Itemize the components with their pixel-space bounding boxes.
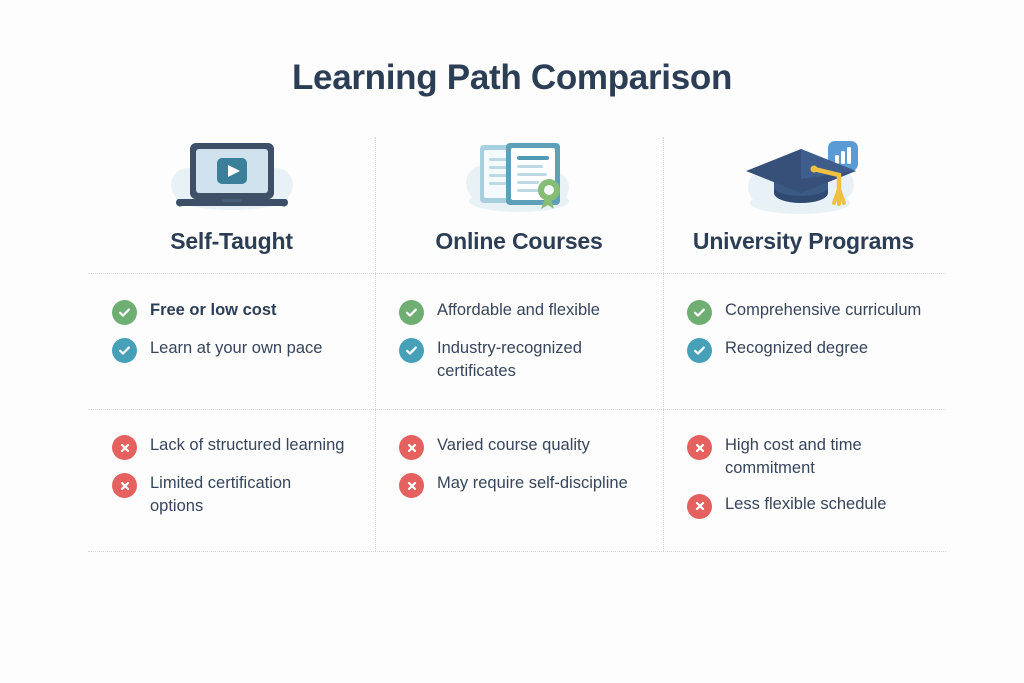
list-item-label: Less flexible schedule: [725, 493, 886, 516]
graduation-cap-icon: [729, 134, 879, 220]
certificate-documents-icon: [444, 134, 594, 220]
list-item: Limited certification options: [112, 472, 375, 519]
list-item: Recognized degree: [687, 337, 944, 363]
cons-list-self-taught: Lack of structured learning Limited cert…: [88, 409, 375, 552]
check-icon: [687, 338, 712, 363]
pros-list-university-programs: Comprehensive curriculum Recognized degr…: [663, 273, 944, 409]
cross-icon: [399, 473, 424, 498]
cross-icon: [112, 473, 137, 498]
list-item-label: Industry-recognized certificates: [437, 337, 633, 384]
cross-icon: [112, 435, 137, 460]
list-item-label: Lack of structured learning: [150, 434, 344, 457]
check-icon: [112, 338, 137, 363]
list-item-label: Free or low cost: [150, 299, 277, 322]
list-item: Lack of structured learning: [112, 434, 375, 460]
comparison-grid: Self-Taught: [88, 132, 944, 552]
check-icon: [112, 300, 137, 325]
column-title: University Programs: [693, 228, 914, 255]
list-item: Comprehensive curriculum: [687, 299, 944, 325]
list-item: Learn at your own pace: [112, 337, 375, 363]
list-item: Free or low cost: [112, 299, 375, 325]
list-item: High cost and time commitment: [687, 434, 944, 481]
list-item-label: Varied course quality: [437, 434, 590, 457]
cross-icon: [399, 435, 424, 460]
column-title: Online Courses: [435, 228, 602, 255]
learning-path-comparison-infographic: Learning Path Comparison Self: [0, 0, 1024, 683]
cross-icon: [687, 494, 712, 519]
laptop-play-icon: [157, 134, 307, 220]
column-header-self-taught: Self-Taught: [88, 132, 375, 273]
list-item-label: Learn at your own pace: [150, 337, 322, 360]
cons-list-university-programs: High cost and time commitment Less flexi…: [663, 409, 944, 552]
column-header-online-courses: Online Courses: [375, 132, 663, 273]
column-header-university-programs: University Programs: [663, 132, 944, 273]
list-item: Affordable and flexible: [399, 299, 663, 325]
list-item-label: Comprehensive curriculum: [725, 299, 921, 322]
list-item-label: Limited certification options: [150, 472, 346, 519]
column-title: Self-Taught: [170, 228, 293, 255]
list-item: Industry-recognized certificates: [399, 337, 663, 384]
check-icon: [687, 300, 712, 325]
list-item: Less flexible schedule: [687, 493, 944, 519]
list-item: May require self-discipline: [399, 472, 663, 498]
list-item-label: Recognized degree: [725, 337, 868, 360]
list-item: Varied course quality: [399, 434, 663, 460]
cons-list-online-courses: Varied course quality May require self-d…: [375, 409, 663, 552]
list-item-label: Affordable and flexible: [437, 299, 600, 322]
pros-list-self-taught: Free or low cost Learn at your own pace: [88, 273, 375, 409]
page-title: Learning Path Comparison: [0, 58, 1024, 98]
cross-icon: [687, 435, 712, 460]
pros-list-online-courses: Affordable and flexible Industry-recogni…: [375, 273, 663, 409]
check-icon: [399, 338, 424, 363]
check-icon: [399, 300, 424, 325]
list-item-label: High cost and time commitment: [725, 434, 930, 481]
list-item-label: May require self-discipline: [437, 472, 628, 495]
